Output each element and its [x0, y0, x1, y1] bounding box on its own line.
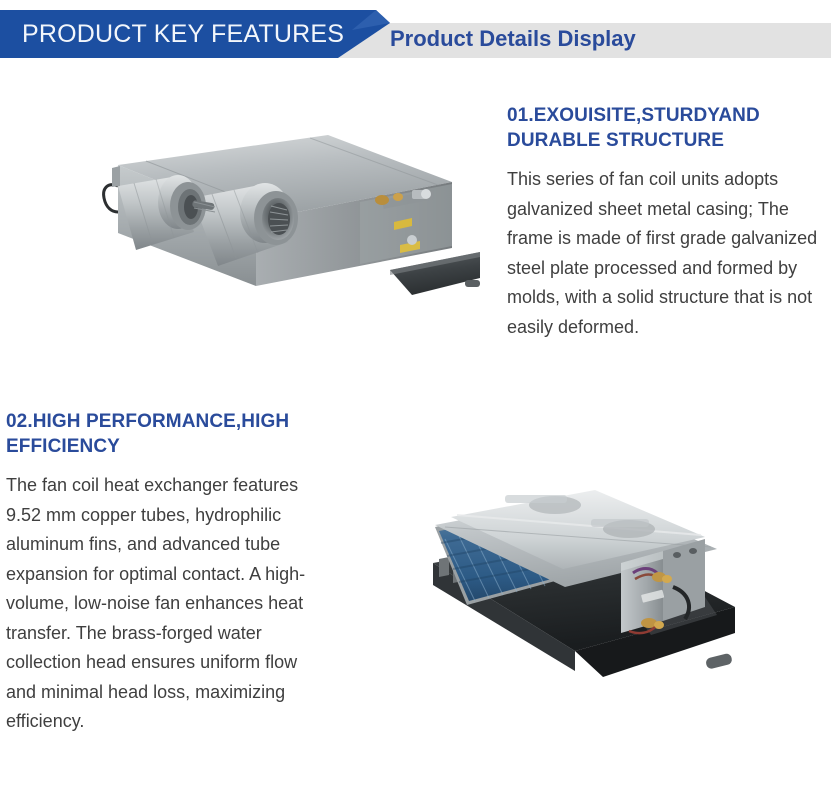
product-photo-heat-exchanger: [405, 455, 825, 705]
feature-body-2: The fan coil heat exchanger features 9.5…: [6, 471, 324, 737]
page-subtitle: Product Details Display: [390, 24, 636, 54]
feature-section-2: 02.HIGH PERFORMANCE,HIGH EFFICIENCY The …: [6, 409, 324, 737]
feature-body-1: This series of fan coil units adopts gal…: [507, 165, 829, 342]
feature-heading-2: 02.HIGH PERFORMANCE,HIGH EFFICIENCY: [6, 409, 324, 459]
banner-title: PRODUCT KEY FEATURES: [22, 19, 344, 49]
page-header: PRODUCT KEY FEATURES Product Details Dis…: [0, 0, 831, 70]
feature-section-1: 01.EXOUISITE,STURDYAND DURABLE STRUCTURE…: [507, 103, 829, 342]
feature-heading-1: 01.EXOUISITE,STURDYAND DURABLE STRUCTURE: [507, 103, 829, 153]
product-photo-structure: [60, 90, 480, 380]
